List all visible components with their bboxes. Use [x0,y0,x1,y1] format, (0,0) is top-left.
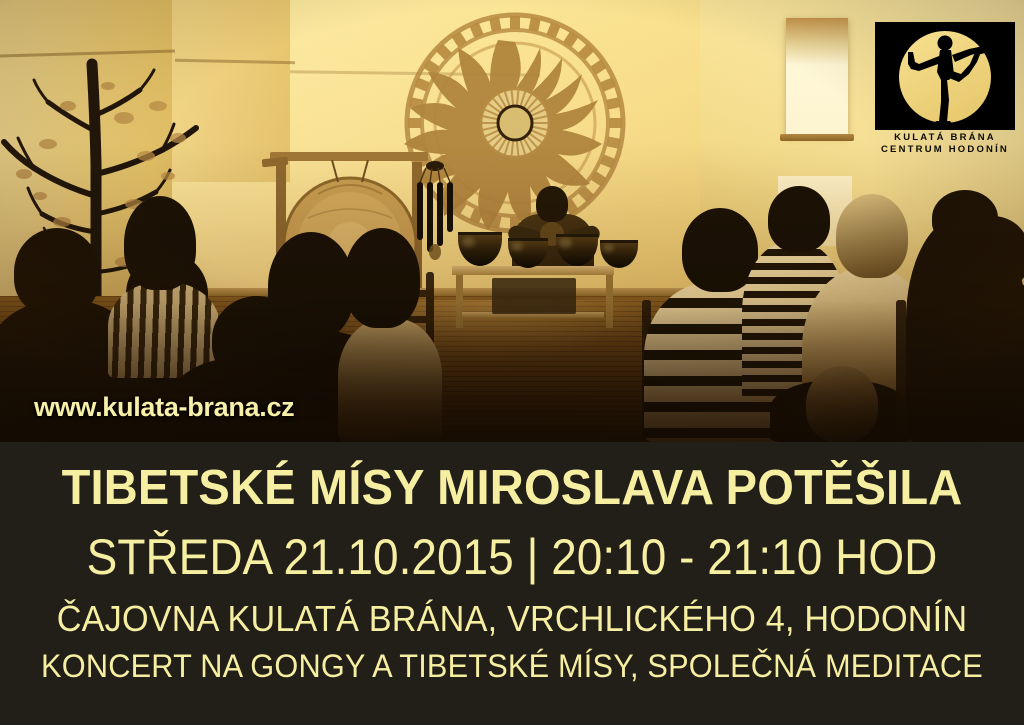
logo-line-2: CENTRUM HODONÍN [875,144,1015,156]
event-poster: www.kulata-brana.cz [0,0,1024,725]
logo[interactable]: KULATÁ BRÁNA CENTRUM HODONÍN [875,22,1015,162]
event-description: KONCERT NA GONGY A TIBETSKÉ MÍSY, SPOLEČ… [20,648,1003,685]
vignette-overlay [0,0,1024,442]
website-url[interactable]: www.kulata-brana.cz [34,392,294,423]
logo-line-1: KULATÁ BRÁNA [875,132,1015,144]
event-title: TIBETSKÉ MÍSY MIROSLAVA POTĚŠILA [20,460,1003,516]
yoga-dancer-figure-icon [875,22,1015,130]
event-venue: ČAJOVNA KULATÁ BRÁNA, VRCHLICKÉHO 4, HOD… [26,598,999,640]
event-datetime: STŘEDA 21.10.2015 | 20:10 - 21:10 HOD [41,528,983,586]
logo-text: KULATÁ BRÁNA CENTRUM HODONÍN [875,132,1015,156]
concert-photo: www.kulata-brana.cz [0,0,1024,442]
